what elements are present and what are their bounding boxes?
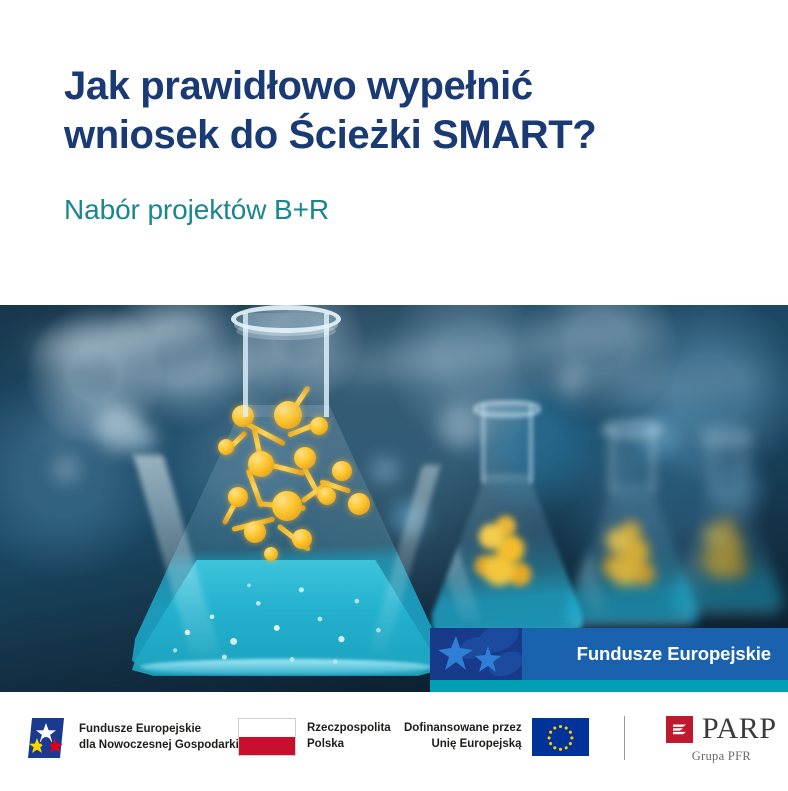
page-title-line-1: Jak prawidłowo wypełnić — [64, 64, 533, 108]
eu-label-line-2: Unię Europejską — [404, 737, 522, 753]
hero-photo: Fundusze Europejskie — [0, 305, 788, 692]
fe-label-line-1: Fundusze Europejskie — [79, 722, 239, 738]
badge-stars-icon — [430, 628, 522, 680]
page-title: Jak prawidłowo wypełnić wniosek do Ścież… — [64, 62, 704, 160]
logo-parp: PARP Grupa PFR — [666, 714, 777, 764]
logo-fundusze-europejskie: Fundusze Europejskie dla Nowoczesnej Gos… — [24, 716, 239, 760]
flask-base — [140, 659, 432, 675]
badge-label-panel: Fundusze Europejskie — [522, 628, 788, 680]
logo-rzeczpospolita-polska: Rzeczpospolita Polska — [238, 718, 391, 756]
eu-label-line-1: Dofinansowane przez — [404, 721, 522, 737]
footer-divider — [624, 716, 625, 760]
pl-label-line-2: Polska — [307, 737, 391, 753]
parp-wordmark: PARP — [702, 714, 777, 744]
eu-label: Dofinansowane przez Unię Europejską — [404, 721, 522, 753]
poland-label: Rzeczpospolita Polska — [307, 721, 391, 753]
parp-tagline: Grupa PFR — [666, 749, 777, 764]
poster-root: Jak prawidłowo wypełnić wniosek do Ścież… — [0, 0, 788, 791]
molecule-structure — [192, 395, 382, 577]
footer-logo-strip: Fundusze Europejskie dla Nowoczesnej Gos… — [0, 692, 788, 791]
badge-label: Fundusze Europejskie — [577, 643, 771, 665]
page-subtitle: Nabór projektów B+R — [64, 194, 728, 226]
badge-stars-panel — [430, 628, 522, 680]
background-flask-2 — [432, 405, 582, 633]
background-flask-4 — [672, 433, 782, 613]
main-flask — [132, 305, 440, 677]
fundusze-europejskie-label: Fundusze Europejskie dla Nowoczesnej Gos… — [79, 722, 239, 754]
parp-mark-icon — [666, 716, 693, 743]
logo-unia-europejska: Dofinansowane przez Unię Europejską — [404, 718, 589, 756]
page-title-line-2: wniosek do Ścieżki SMART? — [64, 113, 596, 157]
eu-flag-icon — [532, 718, 589, 756]
poland-flag-icon — [238, 718, 296, 756]
badge-teal-bar — [430, 680, 788, 692]
pl-label-line-1: Rzeczpospolita — [307, 721, 391, 737]
fe-label-line-2: dla Nowoczesnej Gospodarki — [79, 738, 239, 754]
flask-rim — [231, 305, 341, 333]
fundusze-europejskie-badge: Fundusze Europejskie — [430, 628, 788, 680]
header-block: Jak prawidłowo wypełnić wniosek do Ścież… — [0, 0, 788, 305]
fundusze-europejskie-icon — [24, 716, 68, 760]
